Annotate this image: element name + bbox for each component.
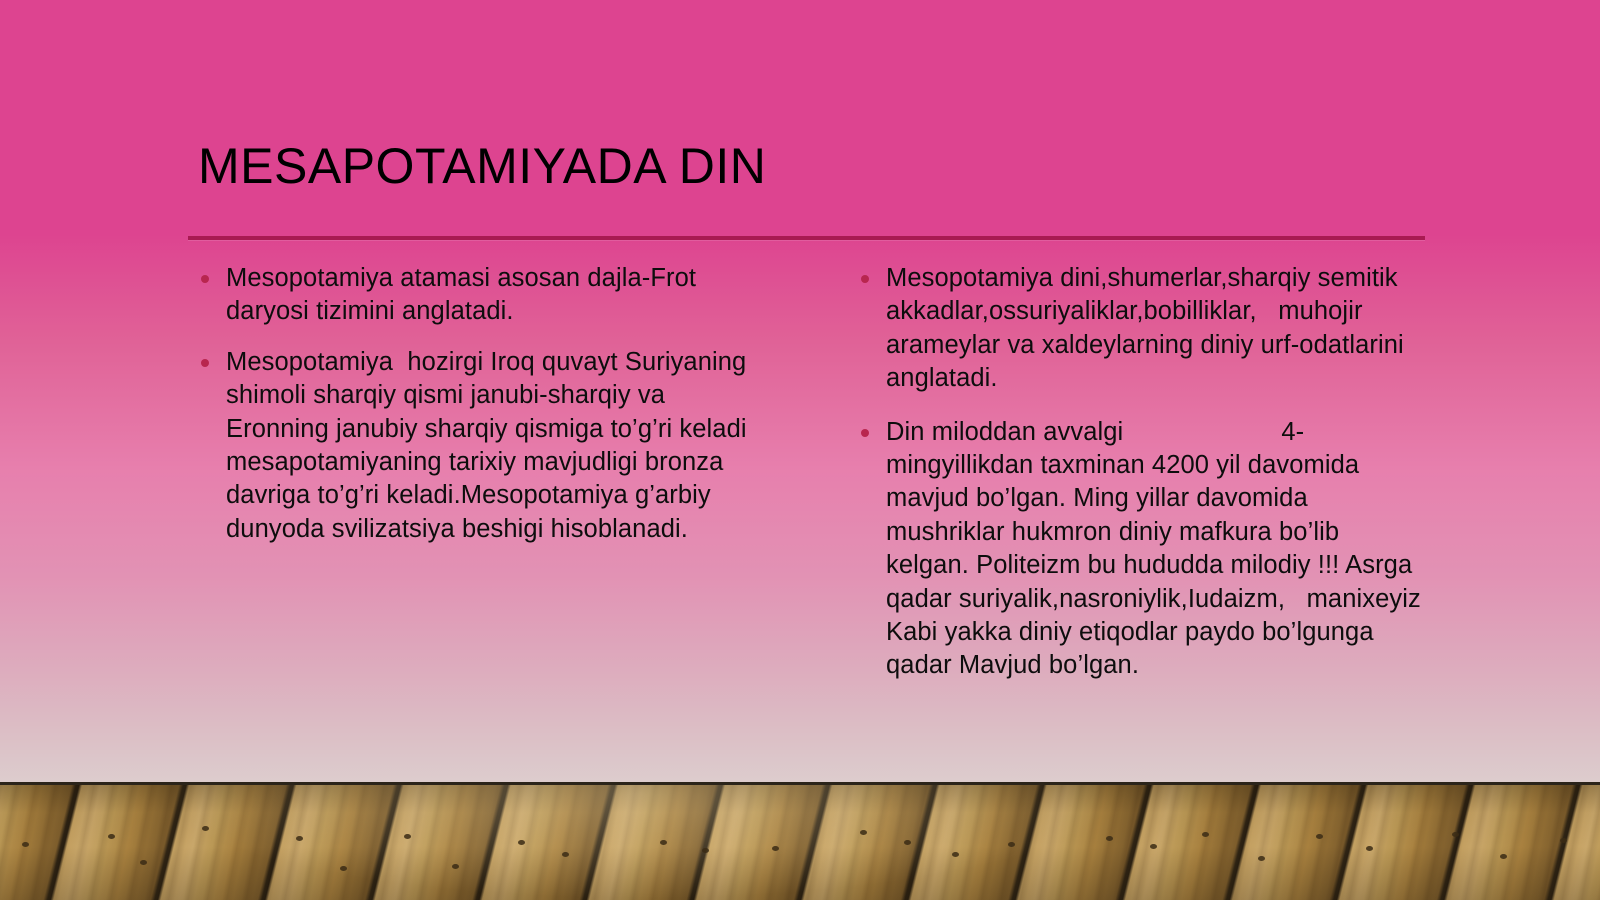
slide-title: Mesapotamiyada din <box>198 138 1428 194</box>
list-item: Mesopotamiya dini,shumerlar,sharqiy semi… <box>848 262 1428 396</box>
list-item: Mesopotamiya atamasi asosan dajla-Frot d… <box>188 262 766 329</box>
right-bullet-list: Mesopotamiya dini,shumerlar,sharqiy semi… <box>848 262 1428 683</box>
title-divider-rule <box>188 236 1425 240</box>
plank-nail-holes <box>0 782 1600 900</box>
list-item: Din miloddan avvalgi 4-mingyillikdan tax… <box>848 416 1428 683</box>
content-columns: Mesopotamiya atamasi asosan dajla-Frot d… <box>188 262 1428 703</box>
list-item: Mesopotamiya hozirgi Iroq quvayt Suriyan… <box>188 346 766 546</box>
wood-floor-decoration <box>0 782 1600 900</box>
left-bullet-list: Mesopotamiya atamasi asosan dajla-Frot d… <box>188 262 766 546</box>
floor-top-edge <box>0 782 1600 785</box>
presentation-slide: Mesapotamiyada din Mesopotamiya atamasi … <box>0 0 1600 900</box>
right-text-column: Mesopotamiya dini,shumerlar,sharqiy semi… <box>848 262 1428 703</box>
left-text-column: Mesopotamiya atamasi asosan dajla-Frot d… <box>188 262 766 703</box>
